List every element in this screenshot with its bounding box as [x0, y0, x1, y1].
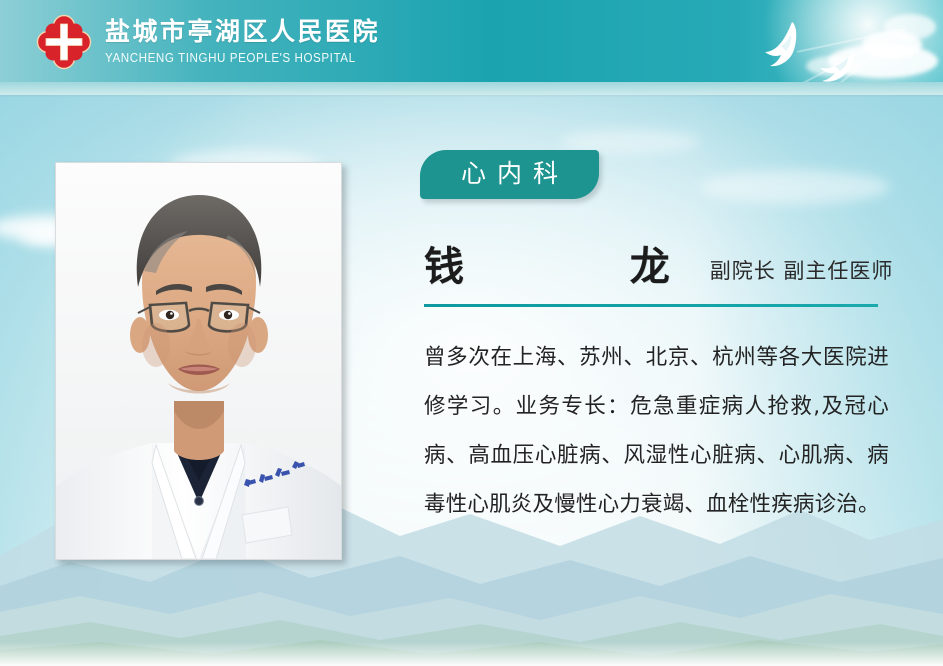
- hospital-name-en: YANCHENG TINGHU PEOPLE'S HOSPITAL: [105, 51, 361, 65]
- doctor-name: 钱 龙: [424, 247, 692, 287]
- page-header: 盐城市亭湖区人民医院 YANCHENG TINGHU PEOPLE'S HOSP…: [0, 0, 943, 82]
- dove-icon: [818, 50, 862, 82]
- doctor-photo: [55, 162, 342, 560]
- hospital-cross-flower-logo-icon: [36, 14, 92, 70]
- doctor-bio-text: 曾多次在上海、苏州、北京、杭州等各大医院进修学习。业务专长：危急重症病人抢救,及…: [424, 333, 889, 529]
- dove-icon: [762, 18, 810, 74]
- doctor-titles: 副院长 副主任医师: [710, 255, 894, 285]
- hospital-name-cn: 盐城市亭湖区人民医院: [105, 19, 380, 44]
- cloud-icon: [884, 14, 936, 40]
- header-accent-strip: [0, 82, 943, 95]
- name-divider: [424, 304, 878, 307]
- doctor-profile-page: 盐城市亭湖区人民医院 YANCHENG TINGHU PEOPLE'S HOSP…: [0, 0, 943, 666]
- doctor-name-row: 钱 龙 副院长 副主任医师: [424, 247, 900, 287]
- doctor-info-panel: 心内科 钱 龙 副院长 副主任医师 曾多次在上海、苏州、北京、杭州等各大医院进修…: [400, 150, 900, 529]
- hospital-brand: 盐城市亭湖区人民医院 YANCHENG TINGHU PEOPLE'S HOSP…: [36, 14, 380, 70]
- doctor-bio: 曾多次在上海、苏州、北京、杭州等各大医院进修学习。业务专长：危急重症病人抢救,及…: [424, 333, 889, 529]
- department-badge: 心内科: [420, 150, 599, 199]
